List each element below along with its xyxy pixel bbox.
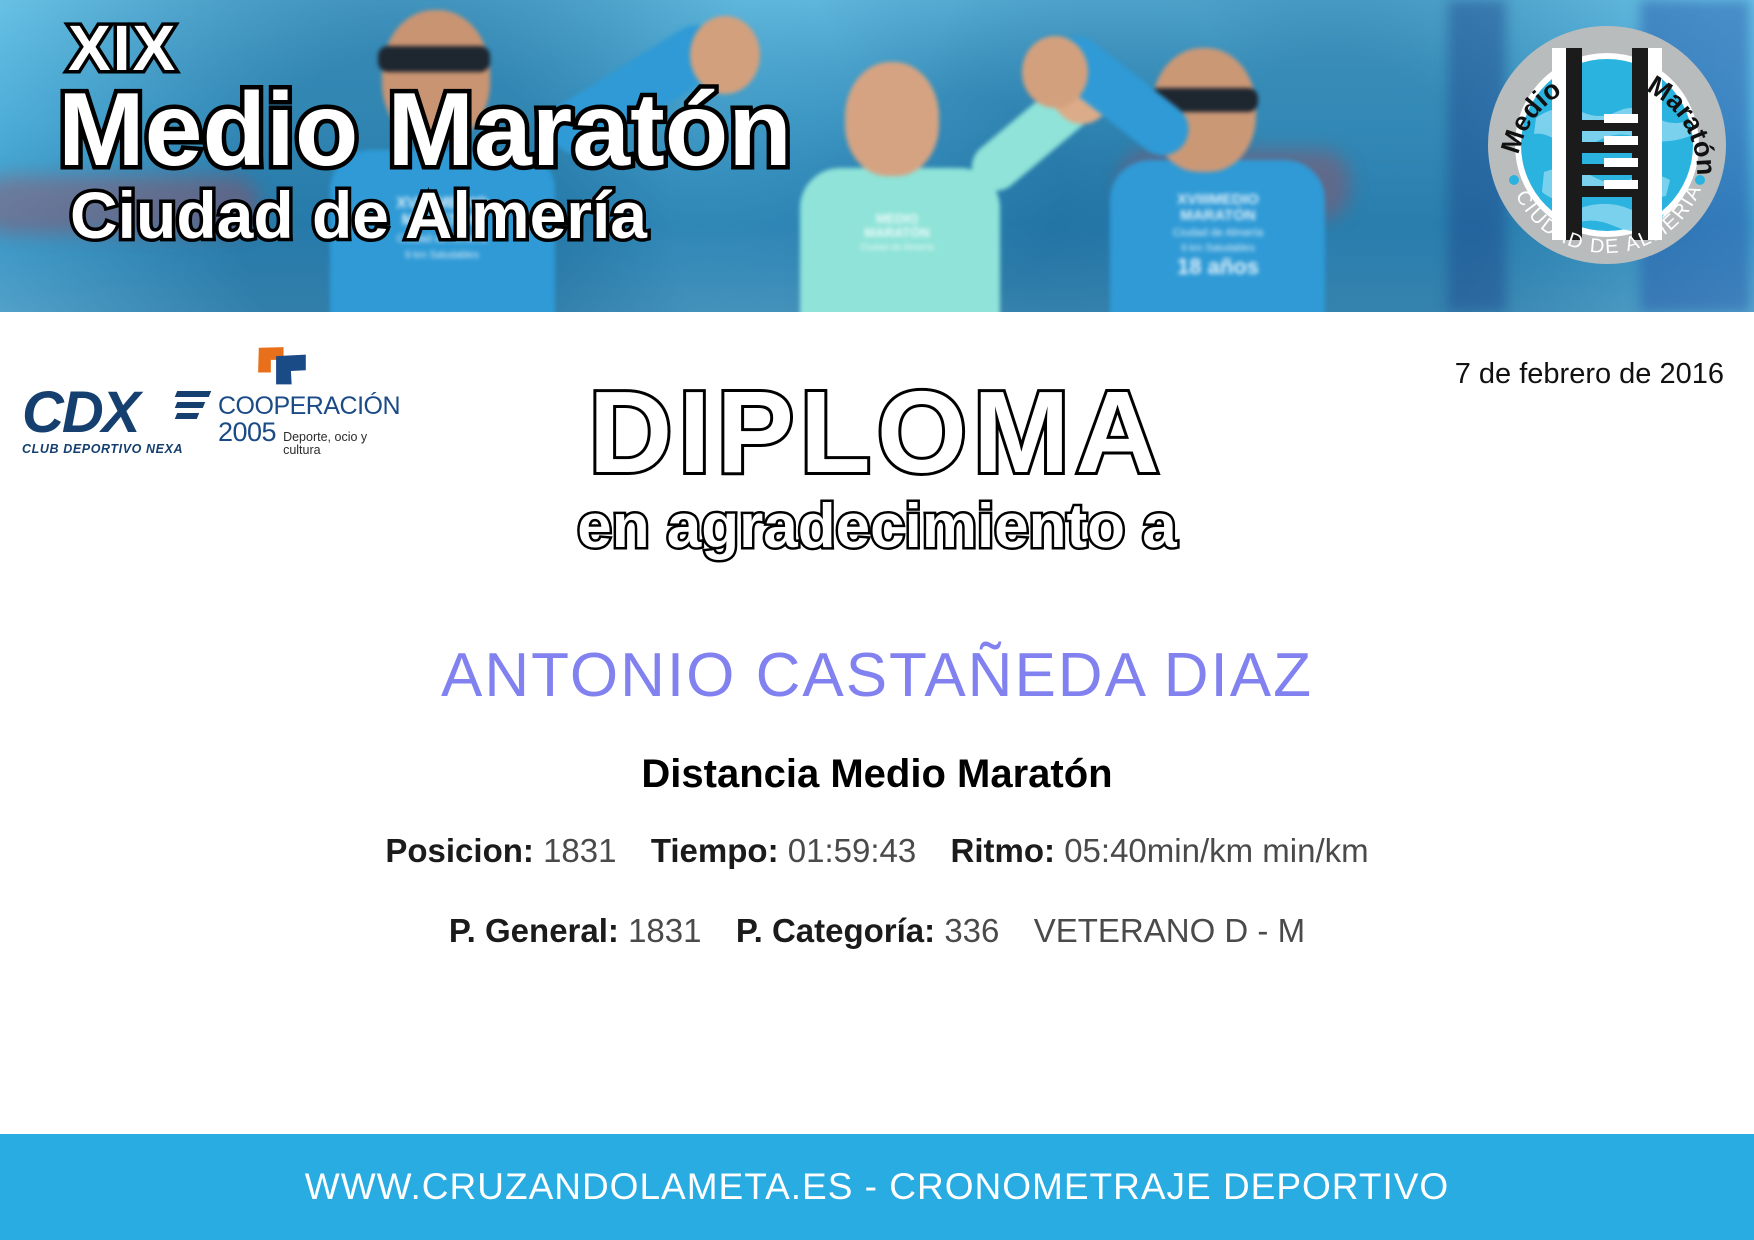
category-name-value: VETERANO D - M (1034, 912, 1305, 949)
event-title-block: XIX Medio Maratón Ciudad de Almería (58, 18, 958, 246)
pace-value: 05:40min/km min/km (1064, 832, 1368, 869)
position-value: 1831 (543, 832, 616, 869)
time-value: 01:59:43 (788, 832, 916, 869)
time-label: Tiempo: (651, 832, 779, 869)
diploma-body: CDX CLUB DEPORTIVO NEXA COOPE (0, 312, 1754, 1134)
general-position-value: 1831 (628, 912, 701, 949)
pace-label: Ritmo: (951, 832, 1055, 869)
results-row-1: Posicion: 1831 Tiempo: 01:59:43 Ritmo: 0… (0, 832, 1754, 870)
diploma-title: DIPLOMA (589, 374, 1166, 490)
footer-text: WWW.CRUZANDOLAMETA.ES - CRONOMETRAJE DEP… (305, 1166, 1449, 1208)
header-banner: XVIII MEDIOMARATÓNCiudad de Almería9 km … (0, 0, 1754, 312)
footer-bar: WWW.CRUZANDOLAMETA.ES - CRONOMETRAJE DEP… (0, 1134, 1754, 1240)
results-row-2: P. General: 1831 P. Categoría: 336 VETER… (0, 912, 1754, 950)
category-position-value: 336 (944, 912, 999, 949)
diploma-subtitle: en agradecimiento a (0, 494, 1754, 559)
event-edition: XIX (68, 18, 958, 79)
event-subtitle: Ciudad de Almería (70, 184, 958, 247)
position-label: Posicion: (385, 832, 534, 869)
category-position-label: P. Categoría: (736, 912, 935, 949)
diploma-page: XVIII MEDIOMARATÓNCiudad de Almería9 km … (0, 0, 1754, 1240)
athlete-name: ANTONIO CASTAÑEDA DIAZ (0, 640, 1754, 711)
event-logo: Medio Maratón CIUDAD DE ALMERÍA Medio Ma… (1484, 22, 1730, 268)
event-title: Medio Maratón (58, 81, 958, 180)
diploma-title-block: DIPLOMA en agradecimiento a (0, 374, 1754, 559)
general-position-label: P. General: (449, 912, 619, 949)
race-distance: Distancia Medio Maratón (0, 752, 1754, 797)
